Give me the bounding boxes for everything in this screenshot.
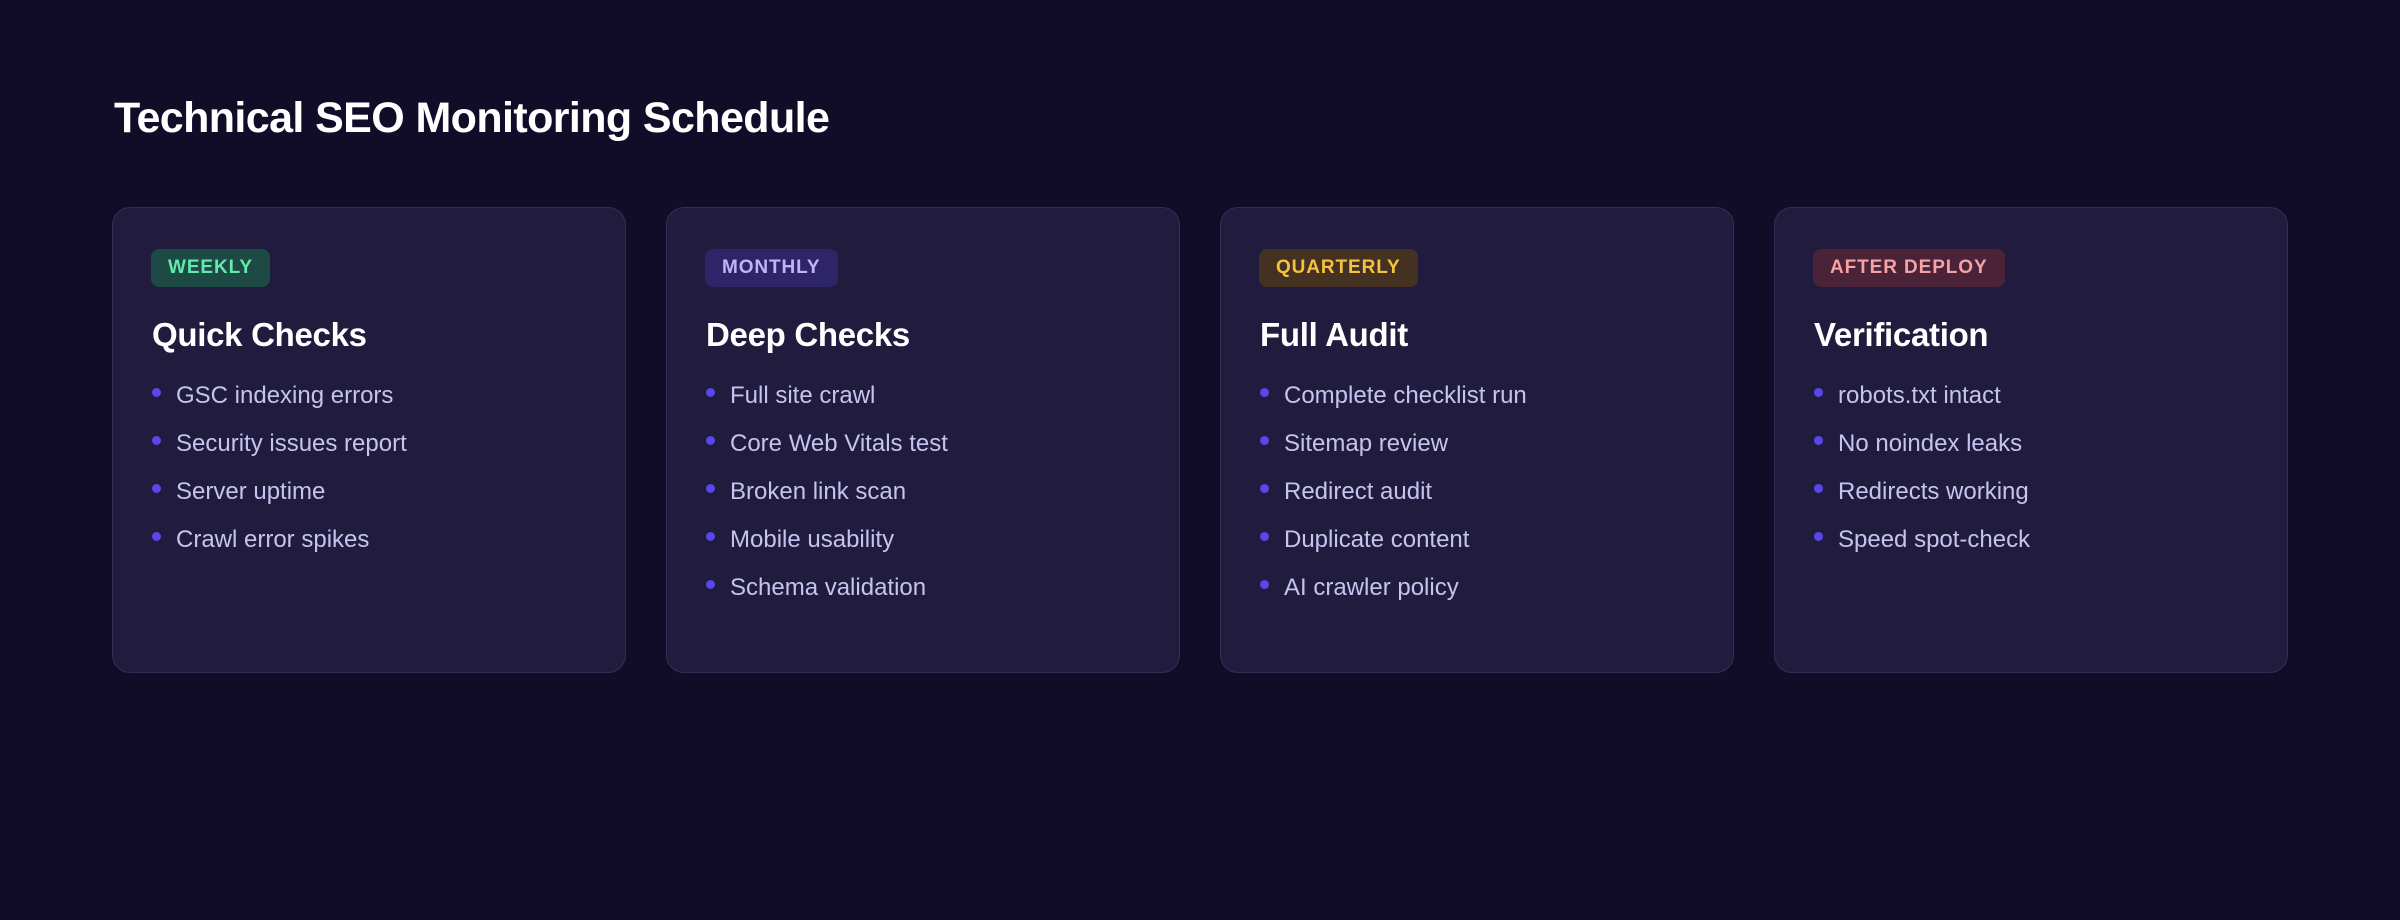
bullet-icon	[706, 436, 715, 445]
bullet-icon	[1260, 532, 1269, 541]
bullet-icon	[706, 580, 715, 589]
bullet-icon	[1260, 388, 1269, 397]
list-item: Full site crawl	[706, 384, 1141, 408]
page-title: Technical SEO Monitoring Schedule	[112, 0, 2288, 140]
schedule-card: QUARTERLYFull AuditComplete checklist ru…	[1220, 207, 1734, 673]
list-item: GSC indexing errors	[152, 384, 587, 408]
list-item: Security issues report	[152, 432, 587, 456]
list-item-label: No noindex leaks	[1838, 432, 2022, 456]
list-item: Broken link scan	[706, 480, 1141, 504]
bullet-icon	[1814, 388, 1823, 397]
schedule-card: MONTHLYDeep ChecksFull site crawlCore We…	[666, 207, 1180, 673]
page-root: Technical SEO Monitoring Schedule WEEKLY…	[0, 0, 2400, 920]
bullet-icon	[1814, 436, 1823, 445]
list-item: Server uptime	[152, 480, 587, 504]
card-heading: Verification	[1814, 318, 2249, 351]
list-item-label: AI crawler policy	[1284, 576, 1459, 600]
bullet-icon	[152, 388, 161, 397]
list-item-label: Broken link scan	[730, 480, 906, 504]
list-item-label: GSC indexing errors	[176, 384, 393, 408]
bullet-icon	[152, 436, 161, 445]
list-item-label: Speed spot-check	[1838, 528, 2030, 552]
schedule-card: WEEKLYQuick ChecksGSC indexing errorsSec…	[112, 207, 626, 673]
list-item-label: Security issues report	[176, 432, 407, 456]
cadence-badge: WEEKLY	[151, 249, 270, 287]
list-item: Mobile usability	[706, 528, 1141, 552]
list-item: Core Web Vitals test	[706, 432, 1141, 456]
list-item: Schema validation	[706, 576, 1141, 600]
bullet-icon	[1260, 580, 1269, 589]
card-heading: Quick Checks	[152, 318, 587, 351]
check-list: Full site crawlCore Web Vitals testBroke…	[706, 384, 1141, 600]
list-item-label: Server uptime	[176, 480, 325, 504]
bullet-icon	[1814, 532, 1823, 541]
cadence-badge: MONTHLY	[705, 249, 838, 287]
list-item: Redirects working	[1814, 480, 2249, 504]
list-item: Duplicate content	[1260, 528, 1695, 552]
cadence-badge: QUARTERLY	[1259, 249, 1418, 287]
list-item: Redirect audit	[1260, 480, 1695, 504]
bullet-icon	[1260, 436, 1269, 445]
list-item: AI crawler policy	[1260, 576, 1695, 600]
bullet-icon	[152, 484, 161, 493]
check-list: GSC indexing errorsSecurity issues repor…	[152, 384, 587, 552]
list-item: Complete checklist run	[1260, 384, 1695, 408]
schedule-card: AFTER DEPLOYVerificationrobots.txt intac…	[1774, 207, 2288, 673]
list-item-label: Schema validation	[730, 576, 926, 600]
cadence-badge: AFTER DEPLOY	[1813, 249, 2005, 287]
card-heading: Full Audit	[1260, 318, 1695, 351]
check-list: Complete checklist runSitemap reviewRedi…	[1260, 384, 1695, 600]
list-item: Speed spot-check	[1814, 528, 2249, 552]
bullet-icon	[1814, 484, 1823, 493]
list-item-label: Redirect audit	[1284, 480, 1432, 504]
list-item: Sitemap review	[1260, 432, 1695, 456]
list-item-label: Complete checklist run	[1284, 384, 1527, 408]
list-item-label: Redirects working	[1838, 480, 2029, 504]
list-item: No noindex leaks	[1814, 432, 2249, 456]
list-item-label: Full site crawl	[730, 384, 875, 408]
list-item-label: Duplicate content	[1284, 528, 1469, 552]
card-heading: Deep Checks	[706, 318, 1141, 351]
bullet-icon	[706, 532, 715, 541]
schedule-card-grid: WEEKLYQuick ChecksGSC indexing errorsSec…	[112, 207, 2288, 673]
check-list: robots.txt intactNo noindex leaksRedirec…	[1814, 384, 2249, 552]
list-item: robots.txt intact	[1814, 384, 2249, 408]
bullet-icon	[152, 532, 161, 541]
list-item-label: Sitemap review	[1284, 432, 1448, 456]
list-item-label: Crawl error spikes	[176, 528, 369, 552]
bullet-icon	[706, 484, 715, 493]
list-item-label: Mobile usability	[730, 528, 894, 552]
bullet-icon	[1260, 484, 1269, 493]
bullet-icon	[706, 388, 715, 397]
list-item-label: robots.txt intact	[1838, 384, 2001, 408]
list-item: Crawl error spikes	[152, 528, 587, 552]
list-item-label: Core Web Vitals test	[730, 432, 948, 456]
